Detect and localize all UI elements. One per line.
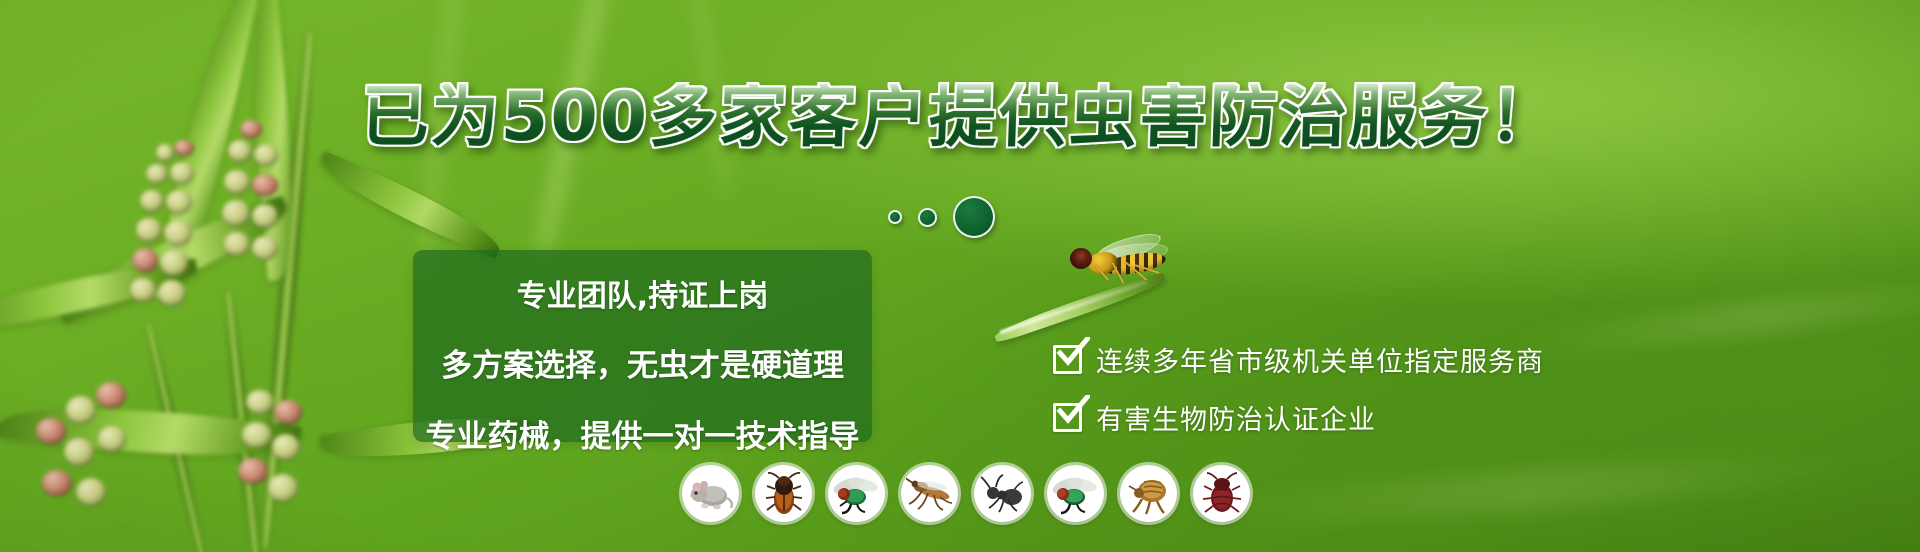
plant-bud bbox=[222, 200, 250, 226]
rodent-icon[interactable] bbox=[682, 465, 739, 522]
hoverfly-on-twig bbox=[990, 238, 1180, 348]
plant-bud bbox=[252, 236, 278, 260]
checklist-item: 连续多年省市级机关单位指定服务商 bbox=[1053, 335, 1544, 383]
hoverfly-eye bbox=[1072, 250, 1087, 266]
dot-large-icon bbox=[953, 196, 995, 238]
selling-point-line-2: 多方案选择，无虫才是硬道理 bbox=[413, 340, 872, 385]
plant-bud bbox=[140, 190, 164, 212]
plant-bud bbox=[76, 478, 106, 506]
checkbox-checked-icon bbox=[1053, 403, 1082, 432]
plant-bud bbox=[164, 220, 192, 246]
plant-bud bbox=[36, 418, 66, 444]
plant-bud bbox=[158, 280, 186, 306]
selling-points-panel: 专业团队,持证上岗 多方案选择，无虫才是硬道理 专业药械，提供一对一技术指导 bbox=[413, 250, 872, 442]
plant-bud bbox=[166, 190, 192, 214]
plant-bud bbox=[268, 474, 298, 502]
plant-bud bbox=[66, 396, 96, 424]
blowfly-icon[interactable] bbox=[1047, 465, 1104, 522]
background-blade bbox=[1179, 446, 1880, 535]
plant-bud bbox=[246, 390, 274, 414]
decorative-dots bbox=[888, 196, 995, 238]
hoverfly-icon bbox=[1062, 238, 1182, 298]
plant-flower-spike bbox=[226, 390, 336, 540]
certification-checklist: 连续多年省市级机关单位指定服务商 有害生物防治认证企业 bbox=[1053, 335, 1544, 441]
headline-text: 已为500多家客户提供虫害防治服务！ bbox=[360, 84, 1560, 152]
selling-point-line-3: 专业药械，提供一对一技术指导 bbox=[413, 411, 872, 456]
cockroach-icon[interactable] bbox=[755, 465, 812, 522]
plant-bud bbox=[42, 470, 72, 496]
plant-bud bbox=[170, 162, 194, 184]
plant-bud bbox=[252, 174, 278, 196]
plant-bud bbox=[64, 438, 94, 466]
plant-bud bbox=[160, 250, 188, 276]
plant-bud bbox=[224, 232, 250, 256]
dot-medium-icon bbox=[918, 208, 937, 227]
background-blade bbox=[1500, 268, 1920, 365]
bedbug-icon[interactable] bbox=[1193, 465, 1250, 522]
plant-bud bbox=[224, 170, 250, 194]
plant-bud bbox=[146, 164, 168, 184]
flea-icon[interactable] bbox=[1120, 465, 1177, 522]
plant-leaf bbox=[313, 151, 508, 260]
plant-bud bbox=[98, 426, 126, 452]
plant-bud bbox=[252, 204, 278, 228]
plant-bud bbox=[272, 434, 300, 460]
pest-type-row bbox=[682, 465, 1250, 522]
plant-bud bbox=[96, 382, 126, 408]
checklist-item: 有害生物防治认证企业 bbox=[1053, 393, 1544, 441]
mosquito-icon[interactable] bbox=[901, 465, 958, 522]
plant-flower-spike bbox=[36, 382, 156, 532]
checklist-item-label: 连续多年省市级机关单位指定服务商 bbox=[1096, 340, 1544, 379]
housefly-icon[interactable] bbox=[828, 465, 885, 522]
plant-bud bbox=[136, 218, 162, 242]
page-title: 已为500多家客户提供虫害防治服务！ bbox=[0, 84, 1920, 152]
ant-icon[interactable] bbox=[974, 465, 1031, 522]
plant-bud bbox=[242, 422, 272, 448]
dot-small-icon bbox=[888, 210, 902, 224]
selling-point-line-1: 专业团队,持证上岗 bbox=[413, 271, 872, 315]
plant-bud bbox=[274, 400, 302, 424]
checkbox-checked-icon bbox=[1053, 345, 1082, 374]
promo-banner: 已为500多家客户提供虫害防治服务！ 专业团队,持证上岗 多方案选择，无虫才是硬… bbox=[0, 0, 1920, 552]
plant-bud bbox=[132, 248, 158, 272]
plant-bud bbox=[130, 278, 156, 302]
checklist-item-label: 有害生物防治认证企业 bbox=[1096, 398, 1376, 437]
plant-bud bbox=[238, 458, 268, 484]
